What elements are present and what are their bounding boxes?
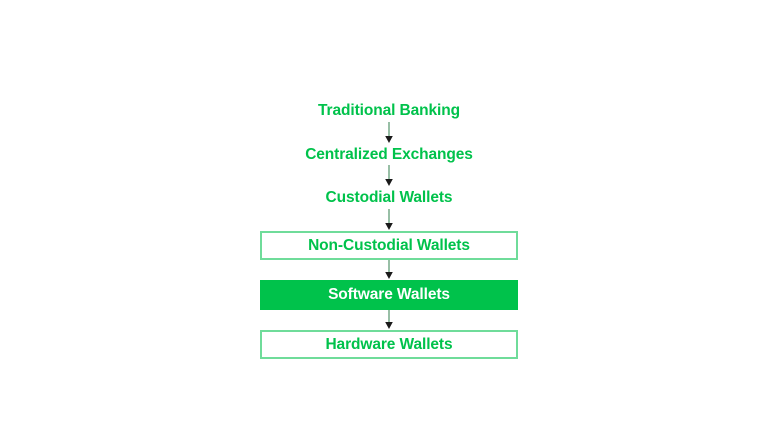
node-centralized-exchanges[interactable]: Centralized Exchanges [260, 144, 518, 166]
node-software-wallets[interactable]: Software Wallets [260, 280, 518, 310]
connector-5 [260, 310, 518, 330]
connector-3 [260, 209, 518, 231]
down-arrow-icon [385, 136, 393, 143]
down-arrow-icon [385, 322, 393, 329]
connector-2 [260, 165, 518, 187]
connector-4 [260, 260, 518, 280]
node-hardware-wallets[interactable]: Hardware Wallets [260, 330, 518, 360]
node-traditional-banking[interactable]: Traditional Banking [260, 100, 518, 122]
flow-chart: Traditional Banking Centralized Exchange… [260, 100, 518, 359]
down-arrow-icon [385, 179, 393, 186]
down-arrow-icon [385, 272, 393, 279]
down-arrow-icon [385, 223, 393, 230]
node-custodial-wallets[interactable]: Custodial Wallets [260, 187, 518, 209]
connector-1 [260, 122, 518, 144]
node-non-custodial-wallets[interactable]: Non-Custodial Wallets [260, 231, 518, 261]
diagram-canvas: Traditional Banking Centralized Exchange… [0, 0, 780, 438]
